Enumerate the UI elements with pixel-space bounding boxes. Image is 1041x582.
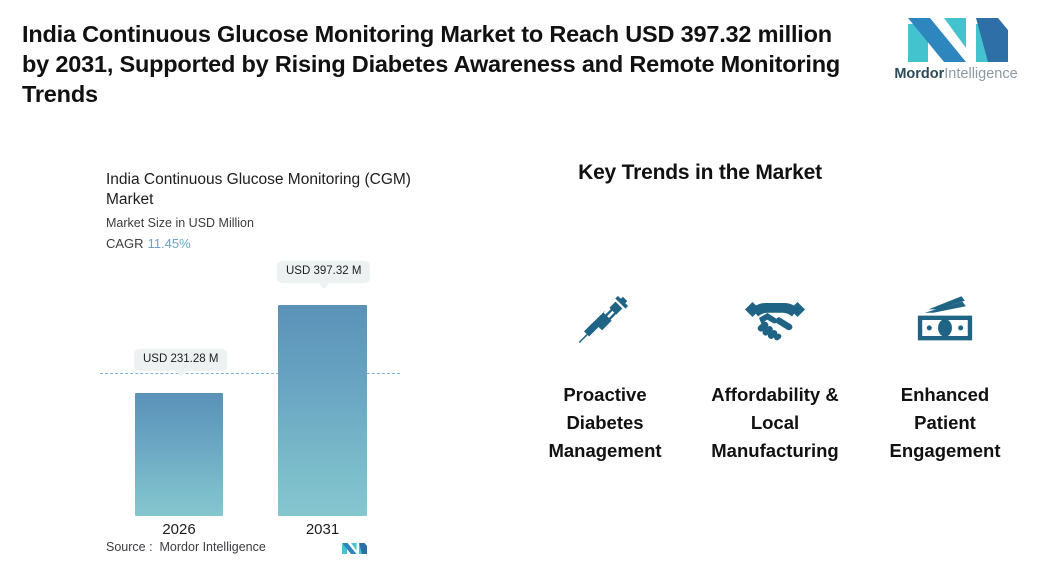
brand-word-intelligence: Intelligence [944, 66, 1017, 82]
key-trend-item-1: Proactive Diabetes Management [520, 290, 690, 465]
cash-icon [912, 290, 978, 348]
chart-source-row: Source : Mordor Intelligence [106, 538, 396, 560]
handshake-icon [742, 290, 808, 348]
bar-2031 [278, 305, 367, 516]
bar-value-label-2031: USD 397.32 M [277, 261, 370, 283]
key-trends-title: Key Trends in the Market [500, 161, 900, 185]
x-axis-label-2031: 2031 [278, 521, 367, 538]
source-value: Mordor Intelligence [160, 540, 266, 554]
syringe-icon [572, 290, 638, 348]
key-trend-label-1: Proactive Diabetes Management [541, 381, 669, 465]
brand-word-mordor: Mordor [894, 66, 944, 82]
key-trends-list: Proactive Diabetes Management [520, 290, 1030, 465]
source-label: Source : [106, 540, 153, 554]
page-title: India Continuous Glucose Monitoring Mark… [22, 19, 862, 109]
bar-value-label-2026: USD 231.28 M [134, 349, 227, 371]
bar-2026 [135, 393, 223, 516]
key-trend-item-3: Enhanced Patient Engagement [860, 290, 1030, 465]
brand-logo: MordorIntelligence [888, 14, 1024, 92]
page-header: India Continuous Glucose Monitoring Mark… [0, 0, 1041, 120]
key-trend-item-2: Affordability & Local Manufacturing [690, 290, 860, 465]
x-axis-label-2026: 2026 [135, 521, 223, 538]
key-trend-label-3: Enhanced Patient Engagement [881, 381, 1009, 465]
brand-wordmark: MordorIntelligence [888, 66, 1024, 82]
key-trend-label-2: Affordability & Local Manufacturing [711, 381, 839, 465]
mordor-intelligence-mark-icon [904, 14, 1008, 62]
mordor-intelligence-small-mark-icon [341, 538, 367, 558]
chart-source-text: Source : Mordor Intelligence [106, 540, 266, 554]
market-size-chart-panel: India Continuous Glucose Monitoring (CGM… [0, 150, 500, 582]
key-trends-panel: Key Trends in the Market [500, 150, 1041, 582]
bar-chart-plot-area: USD 231.28 M USD 397.32 M 2026 2031 [0, 150, 500, 550]
